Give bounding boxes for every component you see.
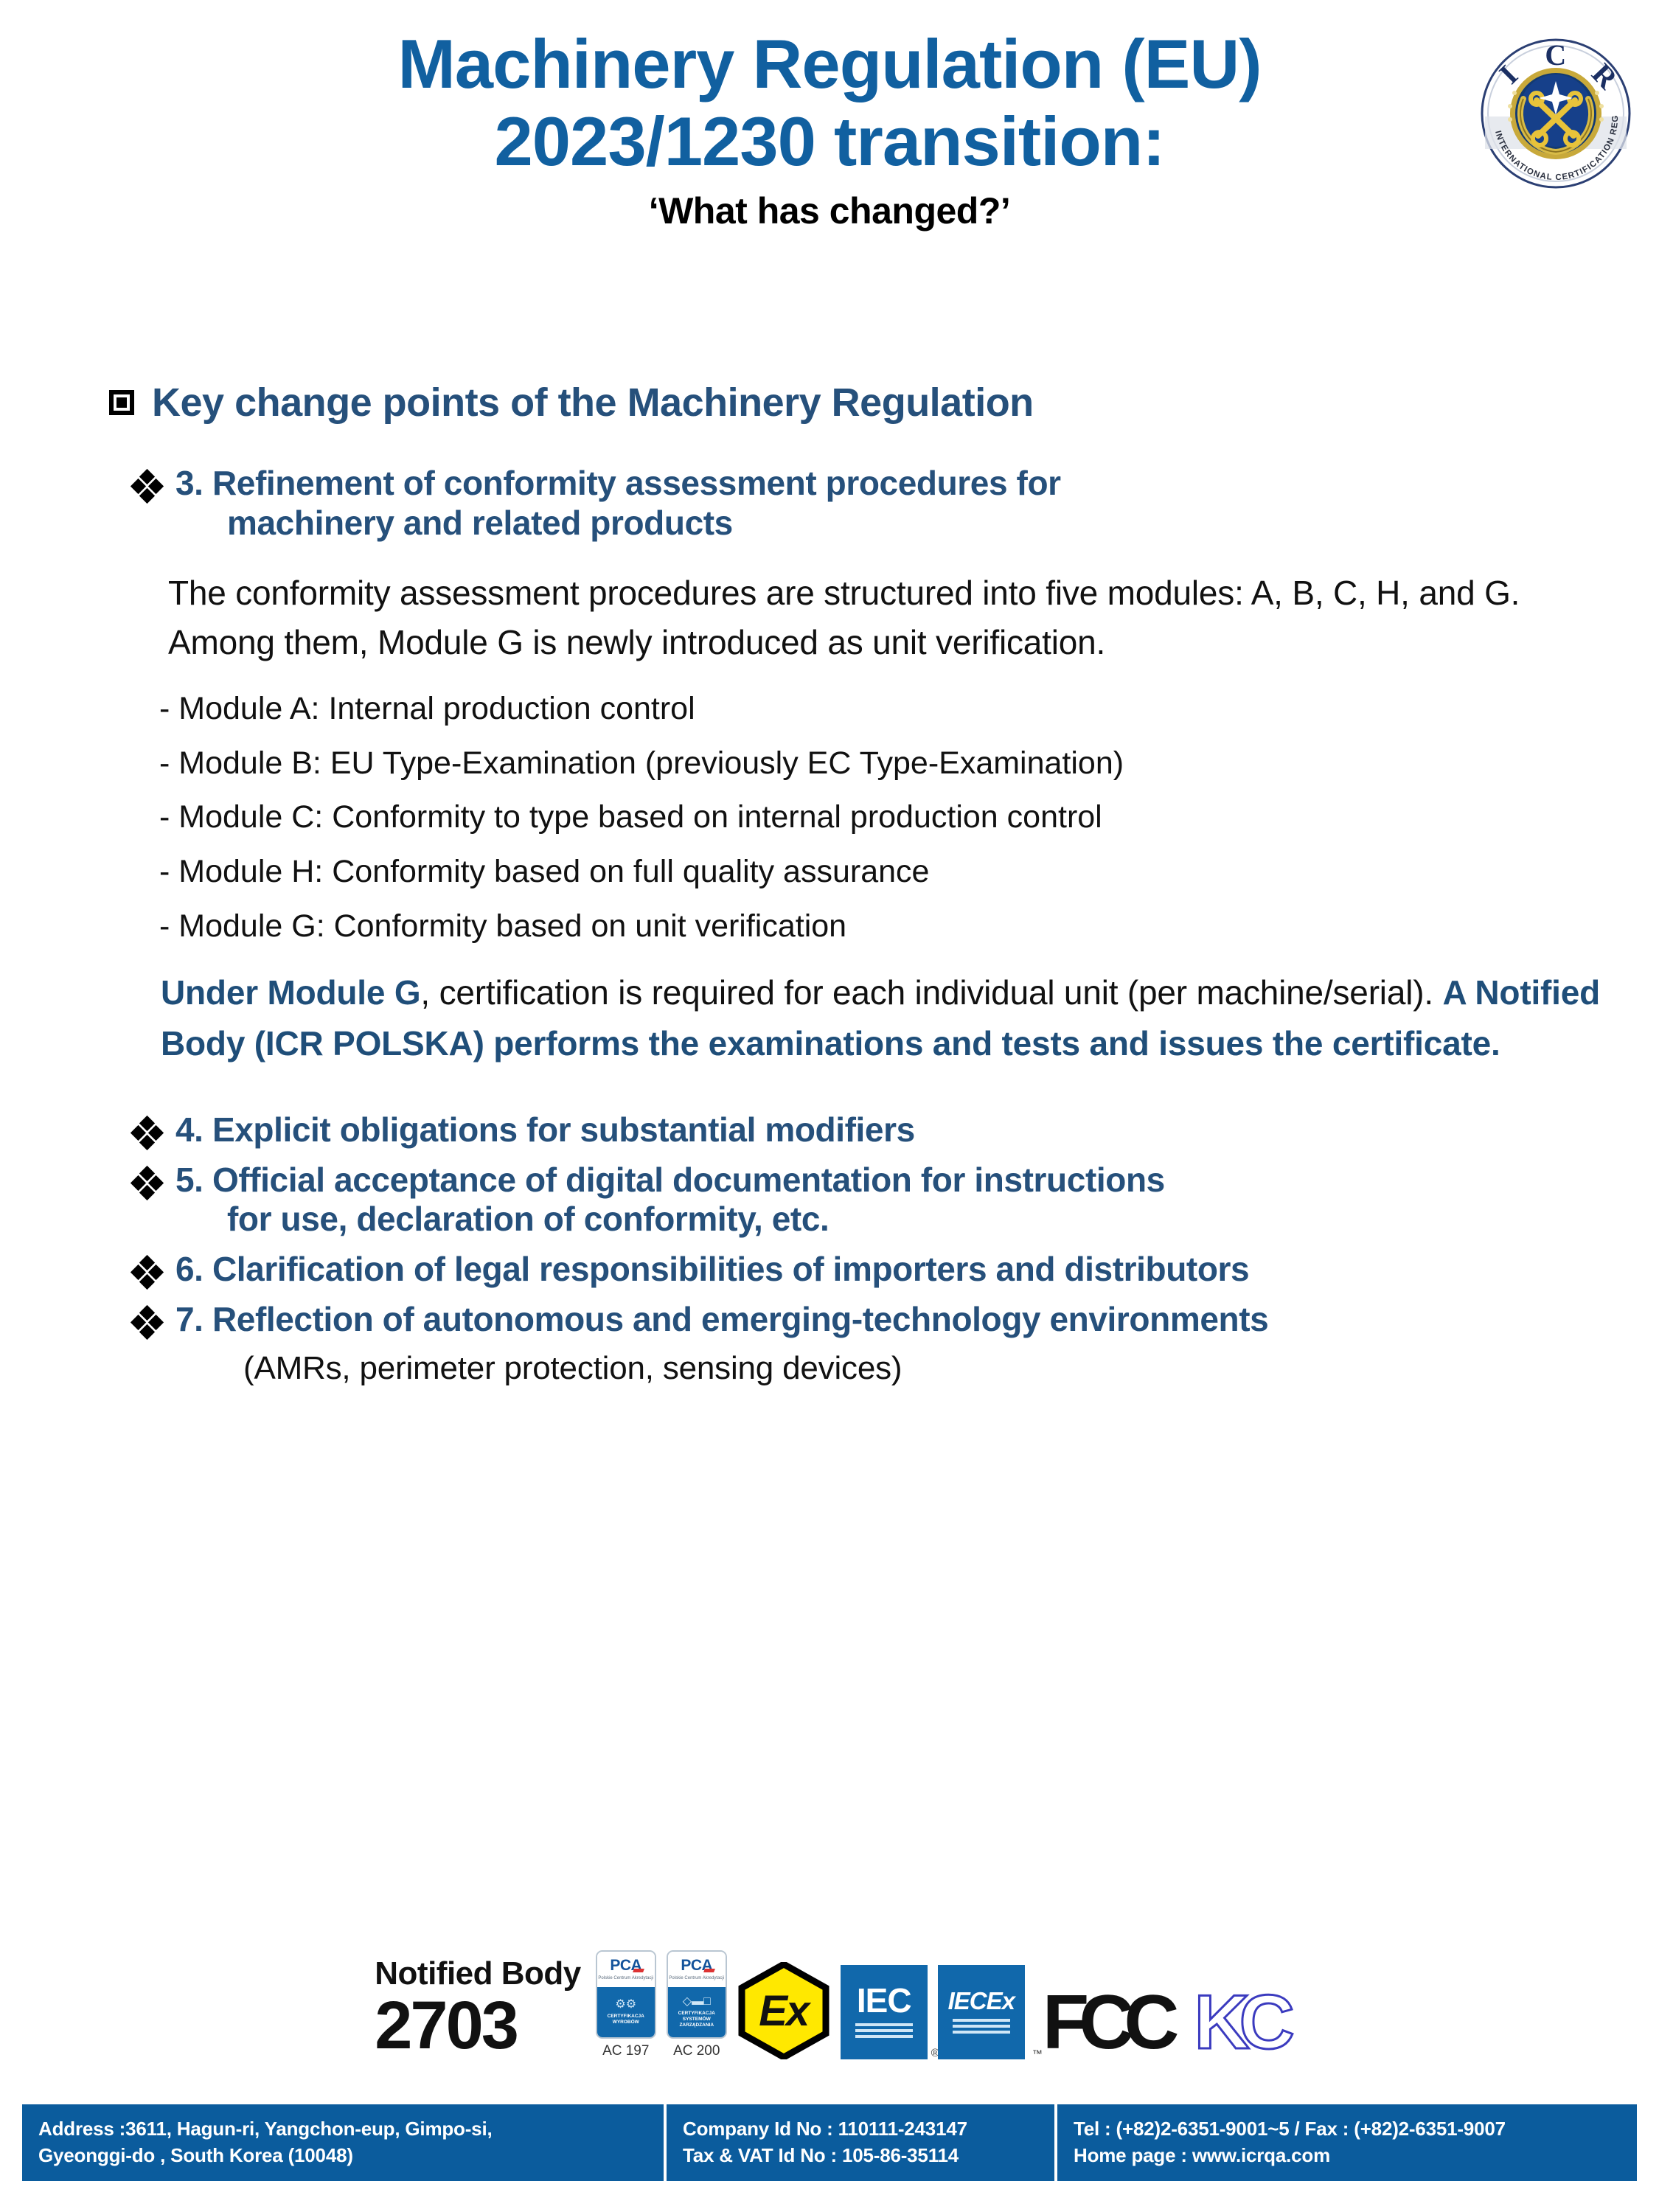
footer-contact-column: Tel : (+82)2-6351-9001~5 / Fax : (+82)2-…	[1054, 2104, 1637, 2181]
under-module-g-paragraph: Under Module G, certification is require…	[161, 967, 1606, 1069]
under-module-g-mid: , certification is required for each ind…	[420, 973, 1442, 1012]
pca-caption: CERTYFIKACJA WYROBÓW	[599, 2014, 653, 2025]
footer-tel-fax: Tel : (+82)2-6351-9001~5 / Fax : (+82)2-…	[1074, 2116, 1621, 2143]
atex-ex-icon: Ex	[737, 1962, 830, 2059]
subtitle: ‘What has changed?’	[0, 189, 1659, 232]
point-4: 4. Explicit obligations for substantial …	[133, 1110, 1659, 1150]
point-6-line-1: 6. Clarification of legal responsibiliti…	[175, 1250, 1249, 1288]
point-3-line-1: 3. Refinement of conformity assessment p…	[175, 464, 1061, 502]
point-3: 3. Refinement of conformity assessment p…	[133, 464, 1659, 543]
kc-logo-icon: KC	[1194, 1986, 1284, 2059]
pca-subtitle: Polskie Centrum Akredytacji	[598, 1976, 653, 1981]
key-change-heading: Key change points of the Machinery Regul…	[109, 380, 1659, 425]
footer-company-column: Company Id No : 110111-243147 Tax & VAT …	[664, 2104, 1054, 2181]
point-7-line-1: 7. Reflection of autonomous and emerging…	[175, 1300, 1268, 1338]
pca-subtitle: Polskie Centrum Akredytacji	[669, 1976, 724, 1981]
under-module-g-lead: Under Module G	[161, 973, 420, 1012]
pca-product-mark: PCA Polskie Centrum Akredytacji ⚙⚙ CERTY…	[596, 1950, 656, 2059]
module-item: - Module A: Internal production control	[159, 690, 1604, 728]
module-item: - Module G: Conformity based on unit ver…	[159, 908, 1604, 945]
pca-ac-number: AC 200	[673, 2043, 720, 2059]
footer-company-id: Company Id No : 110111-243147	[683, 2116, 1038, 2143]
point-4-line-1: 4. Explicit obligations for substantial …	[175, 1110, 915, 1149]
document-header: Machinery Regulation (EU) 2023/1230 tran…	[0, 25, 1659, 232]
footer-address-line-2: Gyeonggi-do , South Korea (10048)	[38, 2143, 647, 2169]
footer-bar: Address :3611, Hagun-ri, Yangchon-eup, G…	[22, 2104, 1637, 2181]
iec-label: IEC	[857, 1983, 911, 2017]
module-list: - Module A: Internal production control …	[159, 690, 1604, 945]
intro-paragraph: The conformity assessment procedures are…	[168, 568, 1599, 668]
fcc-logo-icon: FCC	[1043, 1986, 1169, 2059]
diamond-bullet-icon	[133, 1118, 162, 1150]
pca-ac-number: AC 197	[602, 2043, 649, 2059]
square-bullet-icon	[109, 390, 134, 415]
title-line-1: Machinery Regulation (EU)	[0, 25, 1659, 102]
certification-logo-band: Notified Body 2703 PCA Polskie Centrum A…	[0, 1950, 1659, 2059]
iec-logo-icon: IEC ®	[841, 1965, 928, 2059]
notified-body-label: Notified Body	[375, 1958, 580, 1990]
key-change-heading-label: Key change points of the Machinery Regul…	[152, 380, 1034, 425]
point-7-sub: (AMRs, perimeter protection, sensing dev…	[243, 1350, 1659, 1387]
module-item: - Module C: Conformity to type based on …	[159, 799, 1604, 836]
notified-body-number: 2703	[375, 1992, 517, 2059]
flowchart-icon: ◇▬□	[683, 1996, 711, 2008]
module-item: - Module H: Conformity based on full qua…	[159, 853, 1604, 891]
footer-address-line-1: Address :3611, Hagun-ri, Yangchon-eup, G…	[38, 2116, 647, 2143]
diamond-bullet-icon	[133, 1307, 162, 1340]
diamond-bullet-icon	[133, 471, 162, 504]
diamond-bullet-icon	[133, 1168, 162, 1200]
atex-label: Ex	[759, 1986, 808, 2036]
point-5: 5. Official acceptance of digital docume…	[133, 1161, 1659, 1240]
iec-bars-icon	[855, 2023, 913, 2041]
iecex-logo-icon: IECEx ™	[938, 1965, 1025, 2059]
iecex-bars-icon	[953, 2019, 1010, 2037]
point-6: 6. Clarification of legal responsibiliti…	[133, 1250, 1659, 1290]
footer-address-column: Address :3611, Hagun-ri, Yangchon-eup, G…	[22, 2104, 664, 2181]
trademark-mark-icon: ™	[1032, 2048, 1043, 2059]
diamond-bullet-icon	[133, 1257, 162, 1290]
point-7: 7. Reflection of autonomous and emerging…	[133, 1300, 1659, 1340]
document-page: Machinery Regulation (EU) 2023/1230 tran…	[0, 0, 1659, 2212]
point-5-line-1: 5. Official acceptance of digital docume…	[175, 1161, 1165, 1199]
pca-word: PCA	[681, 1957, 712, 1975]
gears-icon: ⚙⚙	[615, 1999, 636, 2011]
module-item: - Module B: EU Type-Examination (previou…	[159, 745, 1604, 782]
title-line-2: 2023/1230 transition:	[0, 102, 1659, 180]
pca-system-mark: PCA Polskie Centrum Akredytacji ◇▬□ CERT…	[667, 1950, 727, 2059]
document-body: Key change points of the Machinery Regul…	[0, 380, 1659, 1387]
icr-logo-icon: I C R INTERNATIONAL CERTIFICATION REGIST…	[1478, 35, 1634, 192]
points-list: 4. Explicit obligations for substantial …	[0, 1110, 1659, 1388]
notified-body-mark: Notified Body 2703	[375, 1958, 580, 2059]
footer-homepage: Home page : www.icrqa.com	[1074, 2143, 1621, 2169]
pca-caption: CERTYFIKACJA SYSTEMÓW ZARZĄDZANIA	[670, 2011, 723, 2028]
iecex-label: IECEx	[948, 1989, 1015, 2013]
point-5-line-2: for use, declaration of conformity, etc.	[175, 1200, 1165, 1239]
point-3-line-2: machinery and related products	[175, 504, 1061, 543]
pca-word: PCA	[610, 1957, 641, 1975]
svg-text:C: C	[1545, 38, 1566, 72]
footer-vat-id: Tax & VAT Id No : 105-86-35114	[683, 2143, 1038, 2169]
